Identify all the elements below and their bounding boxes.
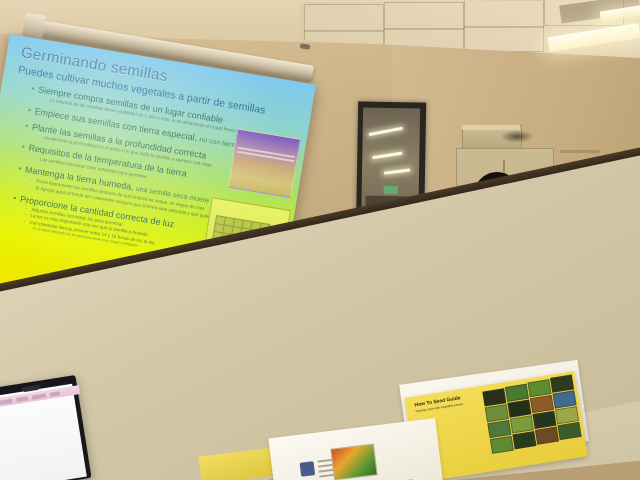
- screen-roller-bracket: [22, 13, 46, 40]
- wall-vent: [560, 150, 600, 153]
- wall-smudge: [500, 130, 534, 143]
- slide-greenhouse-photo: [228, 128, 301, 198]
- university-logo-icon: [300, 461, 316, 477]
- vegetables-photo: [330, 443, 378, 480]
- classroom-presentation-photo: Germinando semillas Puedes cultivar much…: [0, 0, 640, 480]
